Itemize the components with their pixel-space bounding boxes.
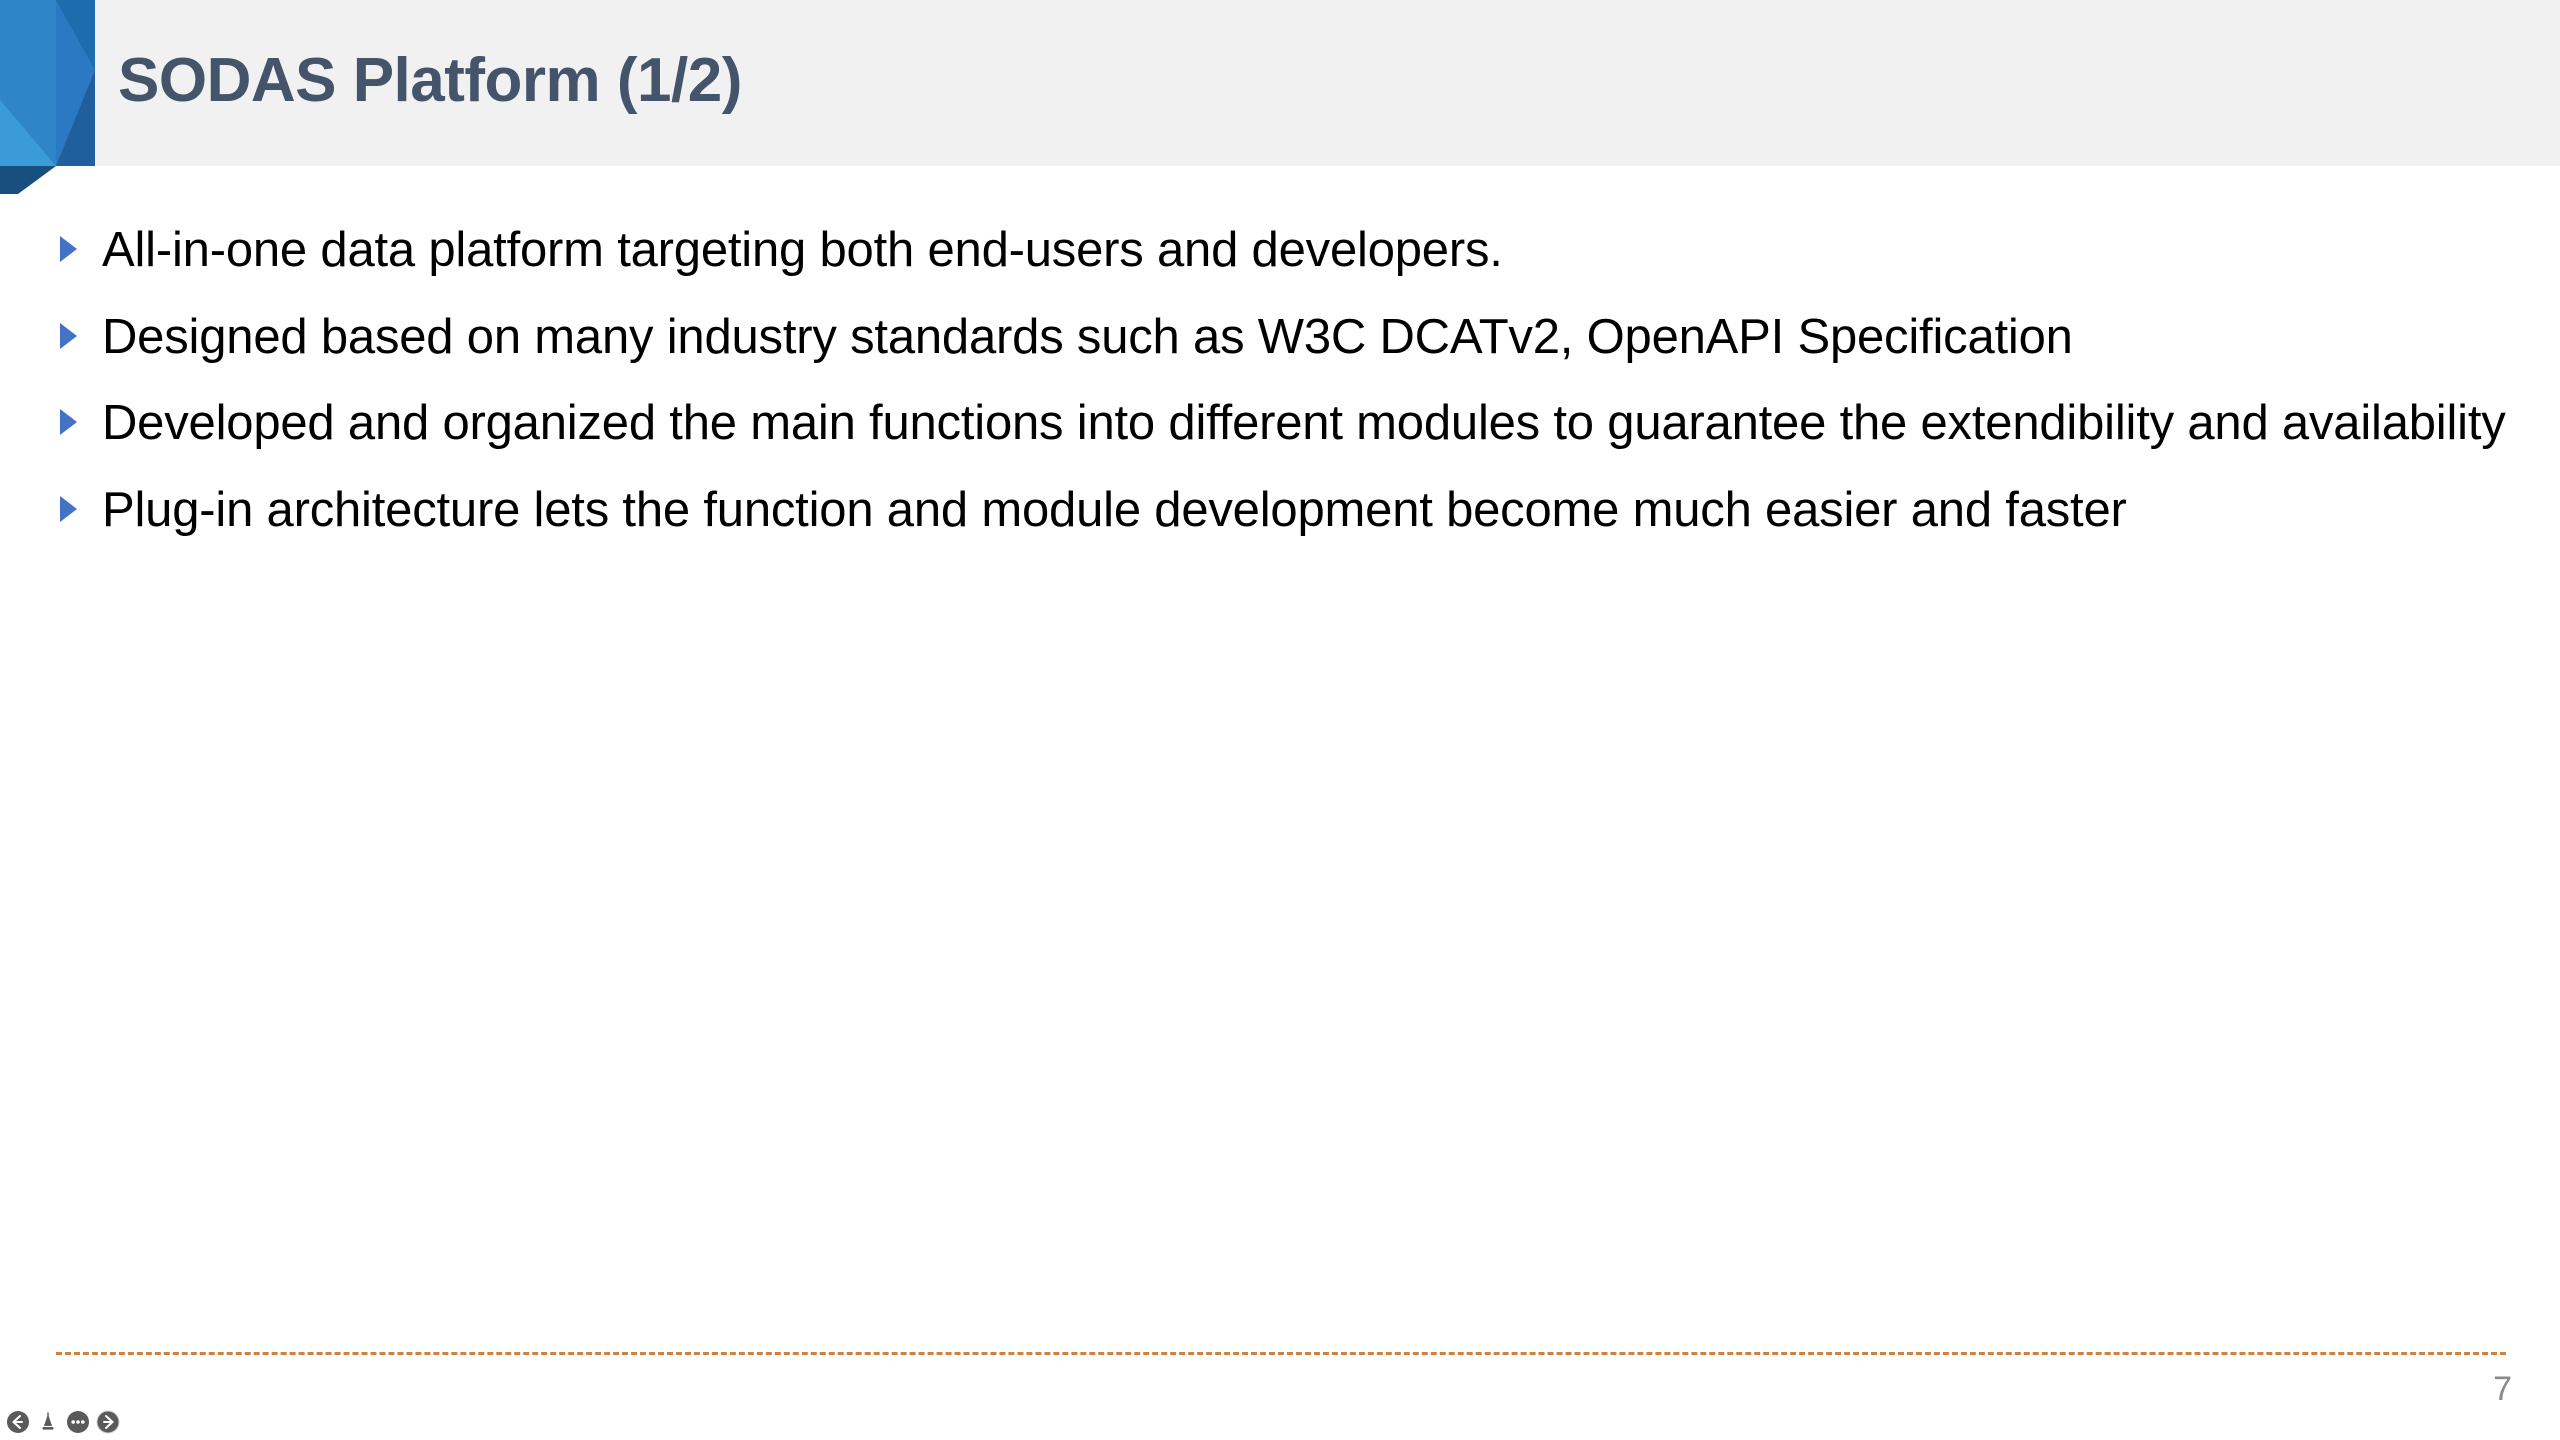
- list-item: Developed and organized the main functio…: [60, 391, 2520, 456]
- page-number: 7: [2493, 1370, 2512, 1409]
- decorative-corner-graphic: [0, 0, 100, 200]
- triangle-bullet-icon: [60, 305, 102, 349]
- deco-shape-foot-triangle: [0, 166, 56, 194]
- bullet-list: All-in-one data platform targeting both …: [60, 218, 2520, 565]
- pen-tool-icon[interactable]: [36, 1410, 60, 1434]
- triangle-bullet-icon: [60, 218, 102, 262]
- list-item: All-in-one data platform targeting both …: [60, 218, 2520, 283]
- list-item-text: Developed and organized the main functio…: [102, 391, 2520, 456]
- footer-divider: [56, 1352, 2506, 1355]
- list-item: Designed based on many industry standard…: [60, 305, 2520, 370]
- list-item-text: Designed based on many industry standard…: [102, 305, 2520, 370]
- more-options-icon[interactable]: [66, 1410, 90, 1434]
- slide-canvas: SODAS Platform (1/2) All-in-one data pla…: [0, 0, 2560, 1440]
- previous-slide-icon[interactable]: [6, 1410, 30, 1434]
- list-item-text: All-in-one data platform targeting both …: [102, 218, 2520, 283]
- list-item: Plug-in architecture lets the function a…: [60, 478, 2520, 543]
- slide-navigation-controls: [6, 1410, 120, 1434]
- next-slide-icon[interactable]: [96, 1410, 120, 1434]
- page-title: SODAS Platform (1/2): [118, 18, 2418, 142]
- triangle-bullet-icon: [60, 391, 102, 435]
- triangle-bullet-icon: [60, 478, 102, 522]
- list-item-text: Plug-in architecture lets the function a…: [102, 478, 2520, 543]
